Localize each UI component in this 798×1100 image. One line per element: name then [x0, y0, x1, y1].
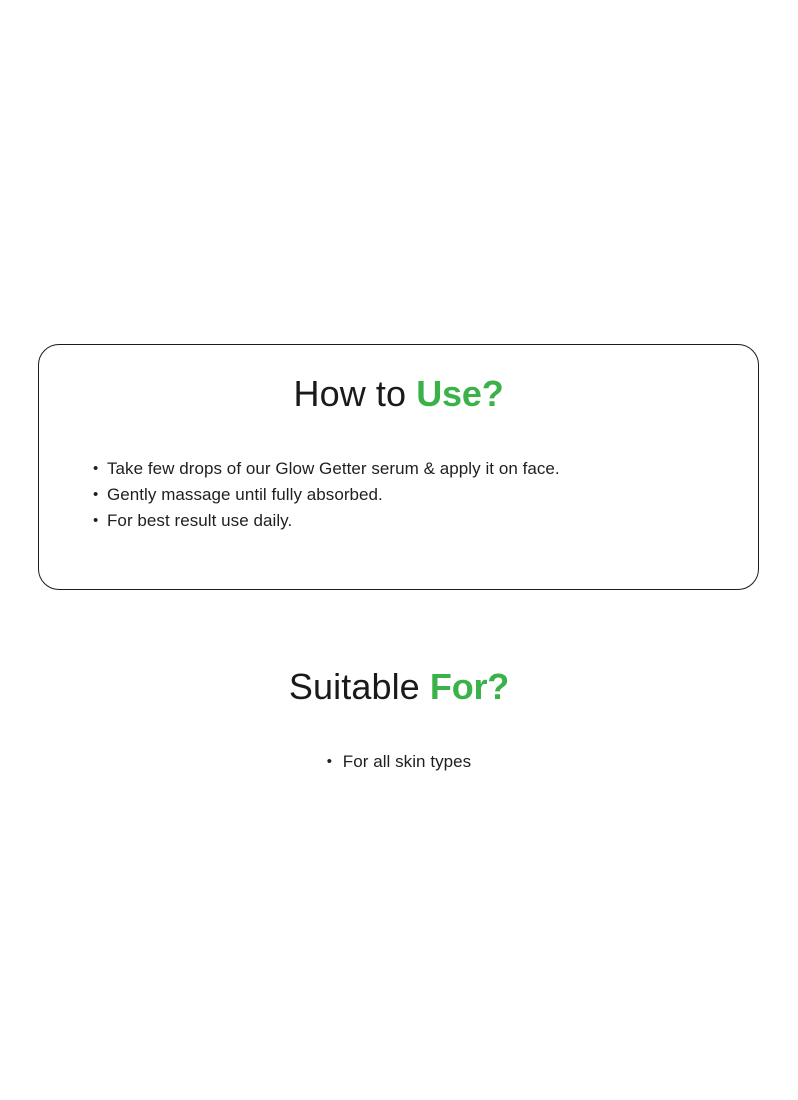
how-to-use-heading-accent: Use?	[416, 373, 503, 414]
how-to-use-heading-plain: How to	[294, 373, 417, 414]
suitable-for-heading-plain: Suitable	[289, 666, 430, 707]
suitable-for-heading-accent: For?	[430, 666, 509, 707]
how-to-use-heading: How to Use?	[39, 376, 758, 412]
list-item: For best result use daily.	[93, 508, 560, 534]
list-item: Gently massage until fully absorbed.	[93, 482, 560, 508]
how-to-use-bullet-list: Take few drops of our Glow Getter serum …	[93, 456, 560, 534]
suitable-for-bullet-list: For all skin types	[0, 750, 798, 774]
list-item: For all skin types	[327, 750, 471, 774]
suitable-for-heading: Suitable For?	[0, 669, 798, 705]
product-info-page: How to Use? Take few drops of our Glow G…	[0, 0, 798, 1100]
how-to-use-card: How to Use? Take few drops of our Glow G…	[38, 344, 759, 590]
list-item: Take few drops of our Glow Getter serum …	[93, 456, 560, 482]
